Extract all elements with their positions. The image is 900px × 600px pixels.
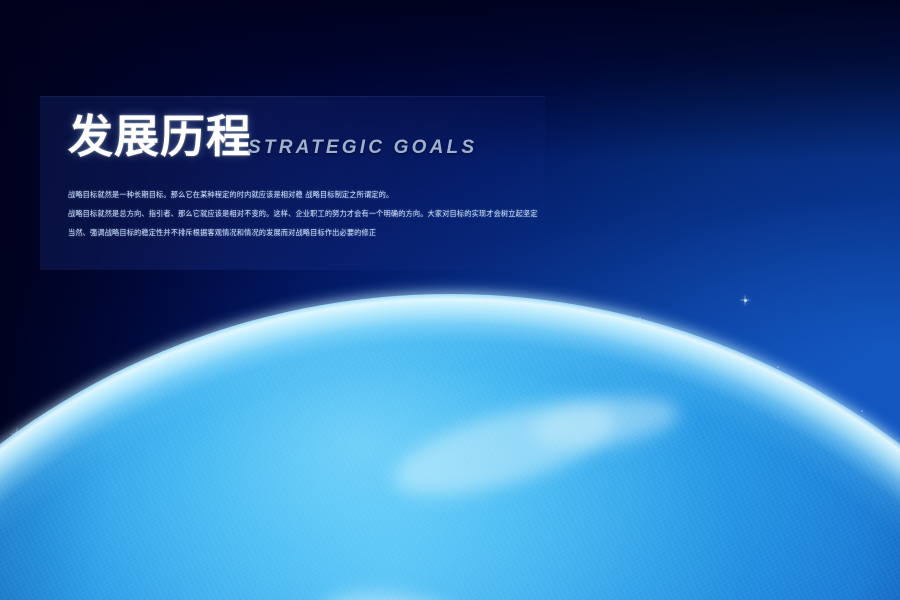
description-text: 战略目标就然是一种长期目标。那么它在某种程定的时内就应该是相对稳 战略目标制定之…: [68, 185, 538, 242]
description-line: 当然、强调战略目标的稳定性并不排斥根据客观情况和情况的发展而对战略目标作出必要的…: [68, 223, 538, 243]
page-subtitle: STRATEGIC GOALS: [248, 138, 477, 159]
earth-globe: [0, 270, 900, 600]
description-line: 战略目标就然是一种长期目标。那么它在某种程定的时内就应该是相对稳 战略目标制定之…: [68, 185, 538, 205]
headline-group: 发展历程 STRATEGIC GOALS: [68, 114, 477, 159]
page-title: 发展历程: [68, 114, 252, 159]
description-line: 战略目标就然是总方向、指引者、那么它就应该是相对不变的。这样、企业职工的努力才会…: [68, 204, 538, 224]
earth-surface-texture: [0, 294, 900, 600]
banner-root: 发展历程 STRATEGIC GOALS 战略目标就然是一种长期目标。那么它在某…: [0, 0, 900, 600]
